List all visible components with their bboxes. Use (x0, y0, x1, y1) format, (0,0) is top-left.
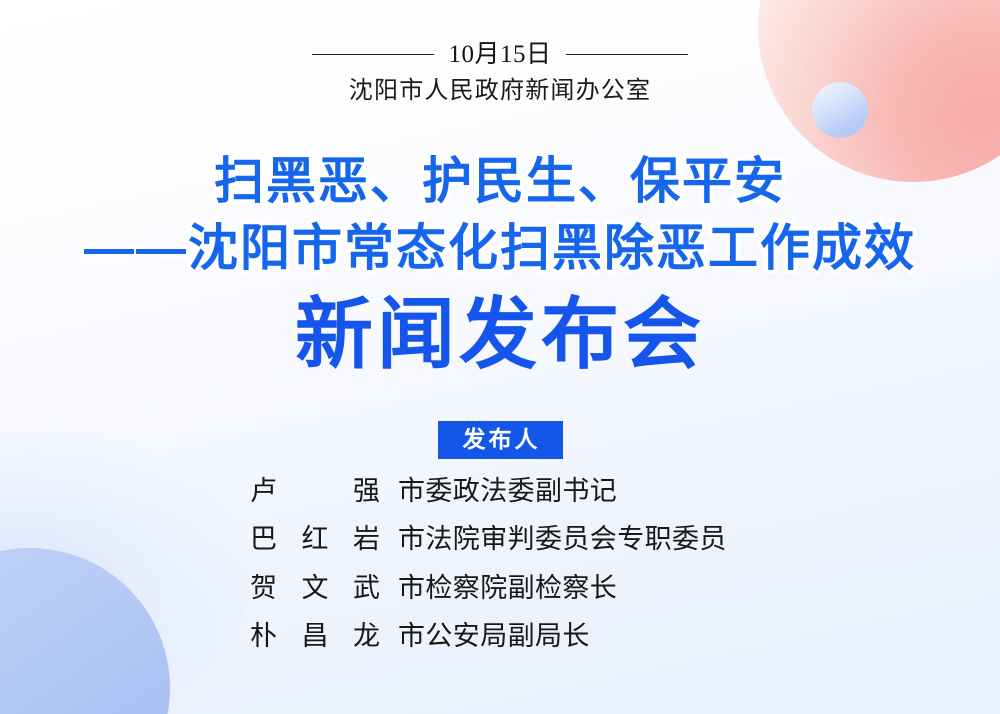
speaker-title: 市检察院副检察长 (398, 569, 750, 607)
speaker-name: 巴红岩 (250, 520, 398, 558)
divider-line-right (566, 54, 688, 55)
speakers-list: 卢强 市委政法委副书记 巴红岩 市法院审判委员会专职委员 贺文武 市检察院副检察… (0, 472, 1000, 655)
issuing-organization: 沈阳市人民政府新闻办公室 (0, 78, 1000, 104)
speaker-row: 卢强 市委政法委副书记 (250, 472, 750, 510)
poster-content: 10月15日 沈阳市人民政府新闻办公室 扫黑恶、护民生、保平安 ——沈阳市常态化… (0, 0, 1000, 714)
speaker-name: 朴昌龙 (250, 617, 398, 655)
speaker-row: 朴昌龙 市公安局副局长 (250, 617, 750, 655)
speaker-name: 贺文武 (250, 569, 398, 607)
poster-header: 10月15日 沈阳市人民政府新闻办公室 (0, 42, 1000, 104)
speaker-row: 贺文武 市检察院副检察长 (250, 569, 750, 607)
headline-block: 扫黑恶、护民生、保平安 ——沈阳市常态化扫黑除恶工作成效 (0, 152, 1000, 278)
date-row: 10月15日 (0, 42, 1000, 67)
speakers-badge: 发布人 (438, 421, 563, 459)
speaker-name: 卢强 (250, 472, 398, 510)
speakers-badge-wrap: 发布人 (0, 421, 1000, 459)
speaker-title: 市法院审判委员会专职委员 (398, 520, 750, 558)
headline-line-1: 扫黑恶、护民生、保平安 (0, 152, 1000, 211)
headline-line-2: ——沈阳市常态化扫黑除恶工作成效 (0, 219, 1000, 278)
divider-line-left (312, 54, 434, 55)
speaker-title: 市公安局副局长 (398, 617, 750, 655)
event-title: 新闻发布会 (0, 296, 1000, 374)
event-date: 10月15日 (448, 42, 551, 67)
speaker-row: 巴红岩 市法院审判委员会专职委员 (250, 520, 750, 558)
press-conference-poster: 10月15日 沈阳市人民政府新闻办公室 扫黑恶、护民生、保平安 ——沈阳市常态化… (0, 0, 1000, 714)
speaker-title: 市委政法委副书记 (398, 472, 750, 510)
